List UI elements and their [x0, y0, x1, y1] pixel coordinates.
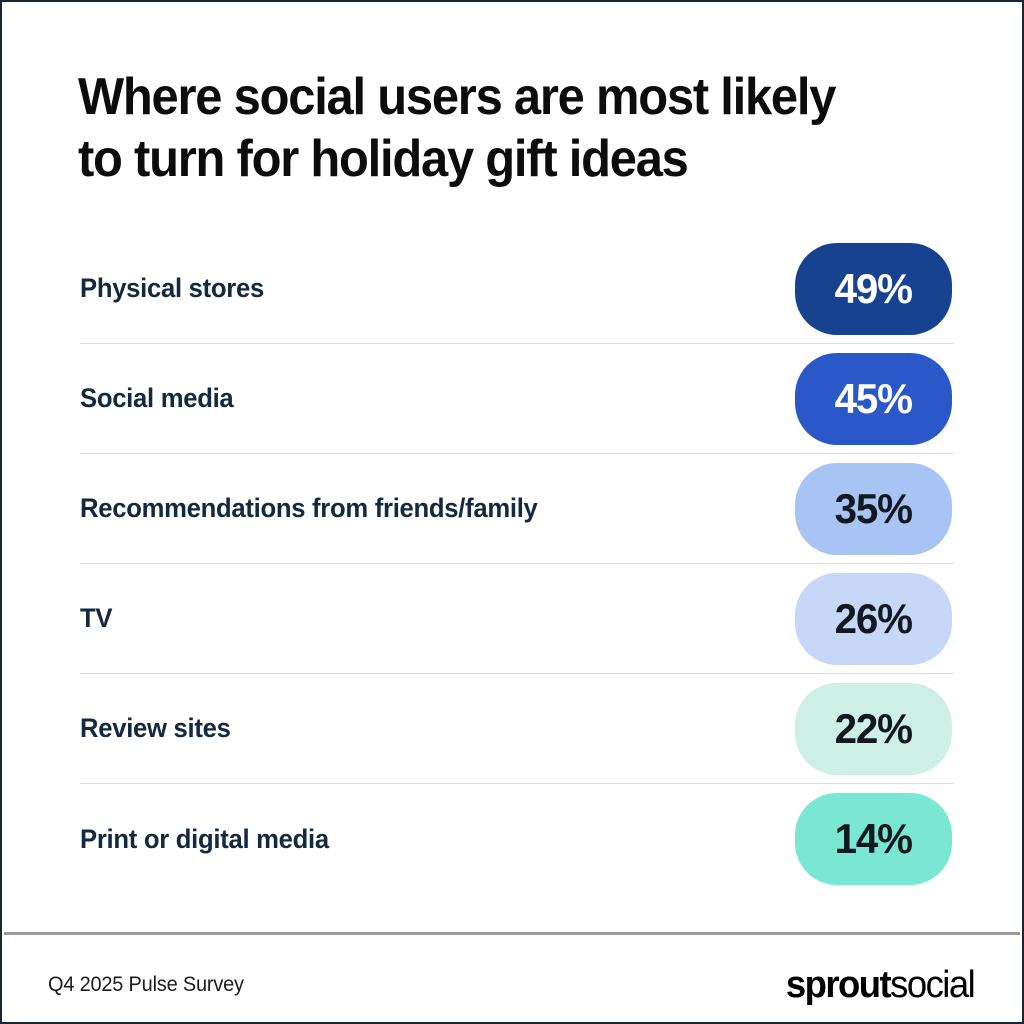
row-label: Social media — [80, 383, 233, 414]
row-label: Recommendations from friends/family — [80, 493, 538, 524]
row-label: Print or digital media — [80, 824, 329, 855]
page-title: Where social users are most likely to tu… — [78, 66, 928, 190]
footer-divider — [4, 932, 1020, 935]
percentage-pill: 45% — [795, 353, 952, 445]
percentage-value: 14% — [835, 818, 912, 860]
row-label: TV — [80, 603, 112, 634]
row-label: Physical stores — [80, 273, 264, 304]
percentage-pill: 26% — [795, 573, 952, 665]
percentage-value: 49% — [835, 268, 912, 310]
table-row: Review sites22% — [80, 674, 954, 784]
table-row: Social media45% — [80, 344, 954, 454]
title-line-1: Where social users are most likely — [78, 66, 877, 128]
logo-sprout-text: sprout — [786, 964, 890, 1007]
logo-social-text: social — [890, 964, 974, 1007]
sproutsocial-logo: sprout social — [786, 964, 974, 1007]
infographic-card: Where social users are most likely to tu… — [0, 0, 1024, 1024]
table-row: Recommendations from friends/family35% — [80, 454, 954, 564]
table-row: Print or digital media14% — [80, 784, 954, 894]
percentage-value: 35% — [835, 488, 912, 530]
percentage-value: 22% — [835, 708, 912, 750]
survey-source-label: Q4 2025 Pulse Survey — [48, 973, 244, 997]
table-row: TV26% — [80, 564, 954, 674]
percentage-pill: 35% — [795, 463, 952, 555]
percentage-value: 45% — [835, 378, 912, 420]
row-label: Review sites — [80, 713, 231, 744]
percentage-pill: 49% — [795, 243, 952, 335]
table-row: Physical stores49% — [80, 234, 954, 344]
footer: Q4 2025 Pulse Survey sprout social — [2, 947, 1022, 1023]
percentage-value: 26% — [835, 598, 912, 640]
chart-rows: Physical stores49%Social media45%Recomme… — [80, 234, 954, 894]
percentage-pill: 22% — [795, 683, 952, 775]
percentage-pill: 14% — [795, 793, 952, 885]
title-line-2: to turn for holiday gift ideas — [78, 128, 877, 190]
